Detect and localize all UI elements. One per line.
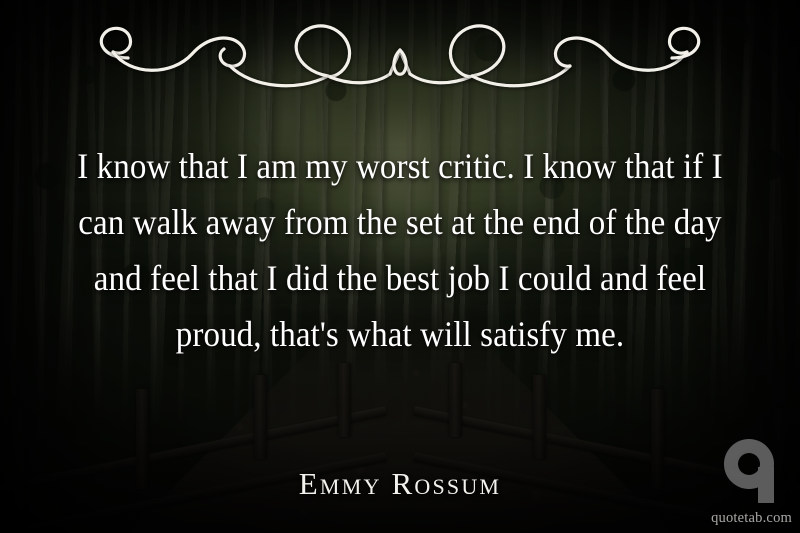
quotetab-q-logo-icon: [716, 437, 782, 505]
watermark[interactable]: quotetab.com: [680, 437, 792, 529]
decorative-flourish-icon: [80, 14, 720, 92]
quote-text: I know that I am my worst critic. I know…: [63, 138, 736, 362]
watermark-label: quotetab.com: [711, 510, 792, 527]
quote-card: I know that I am my worst critic. I know…: [0, 0, 800, 533]
